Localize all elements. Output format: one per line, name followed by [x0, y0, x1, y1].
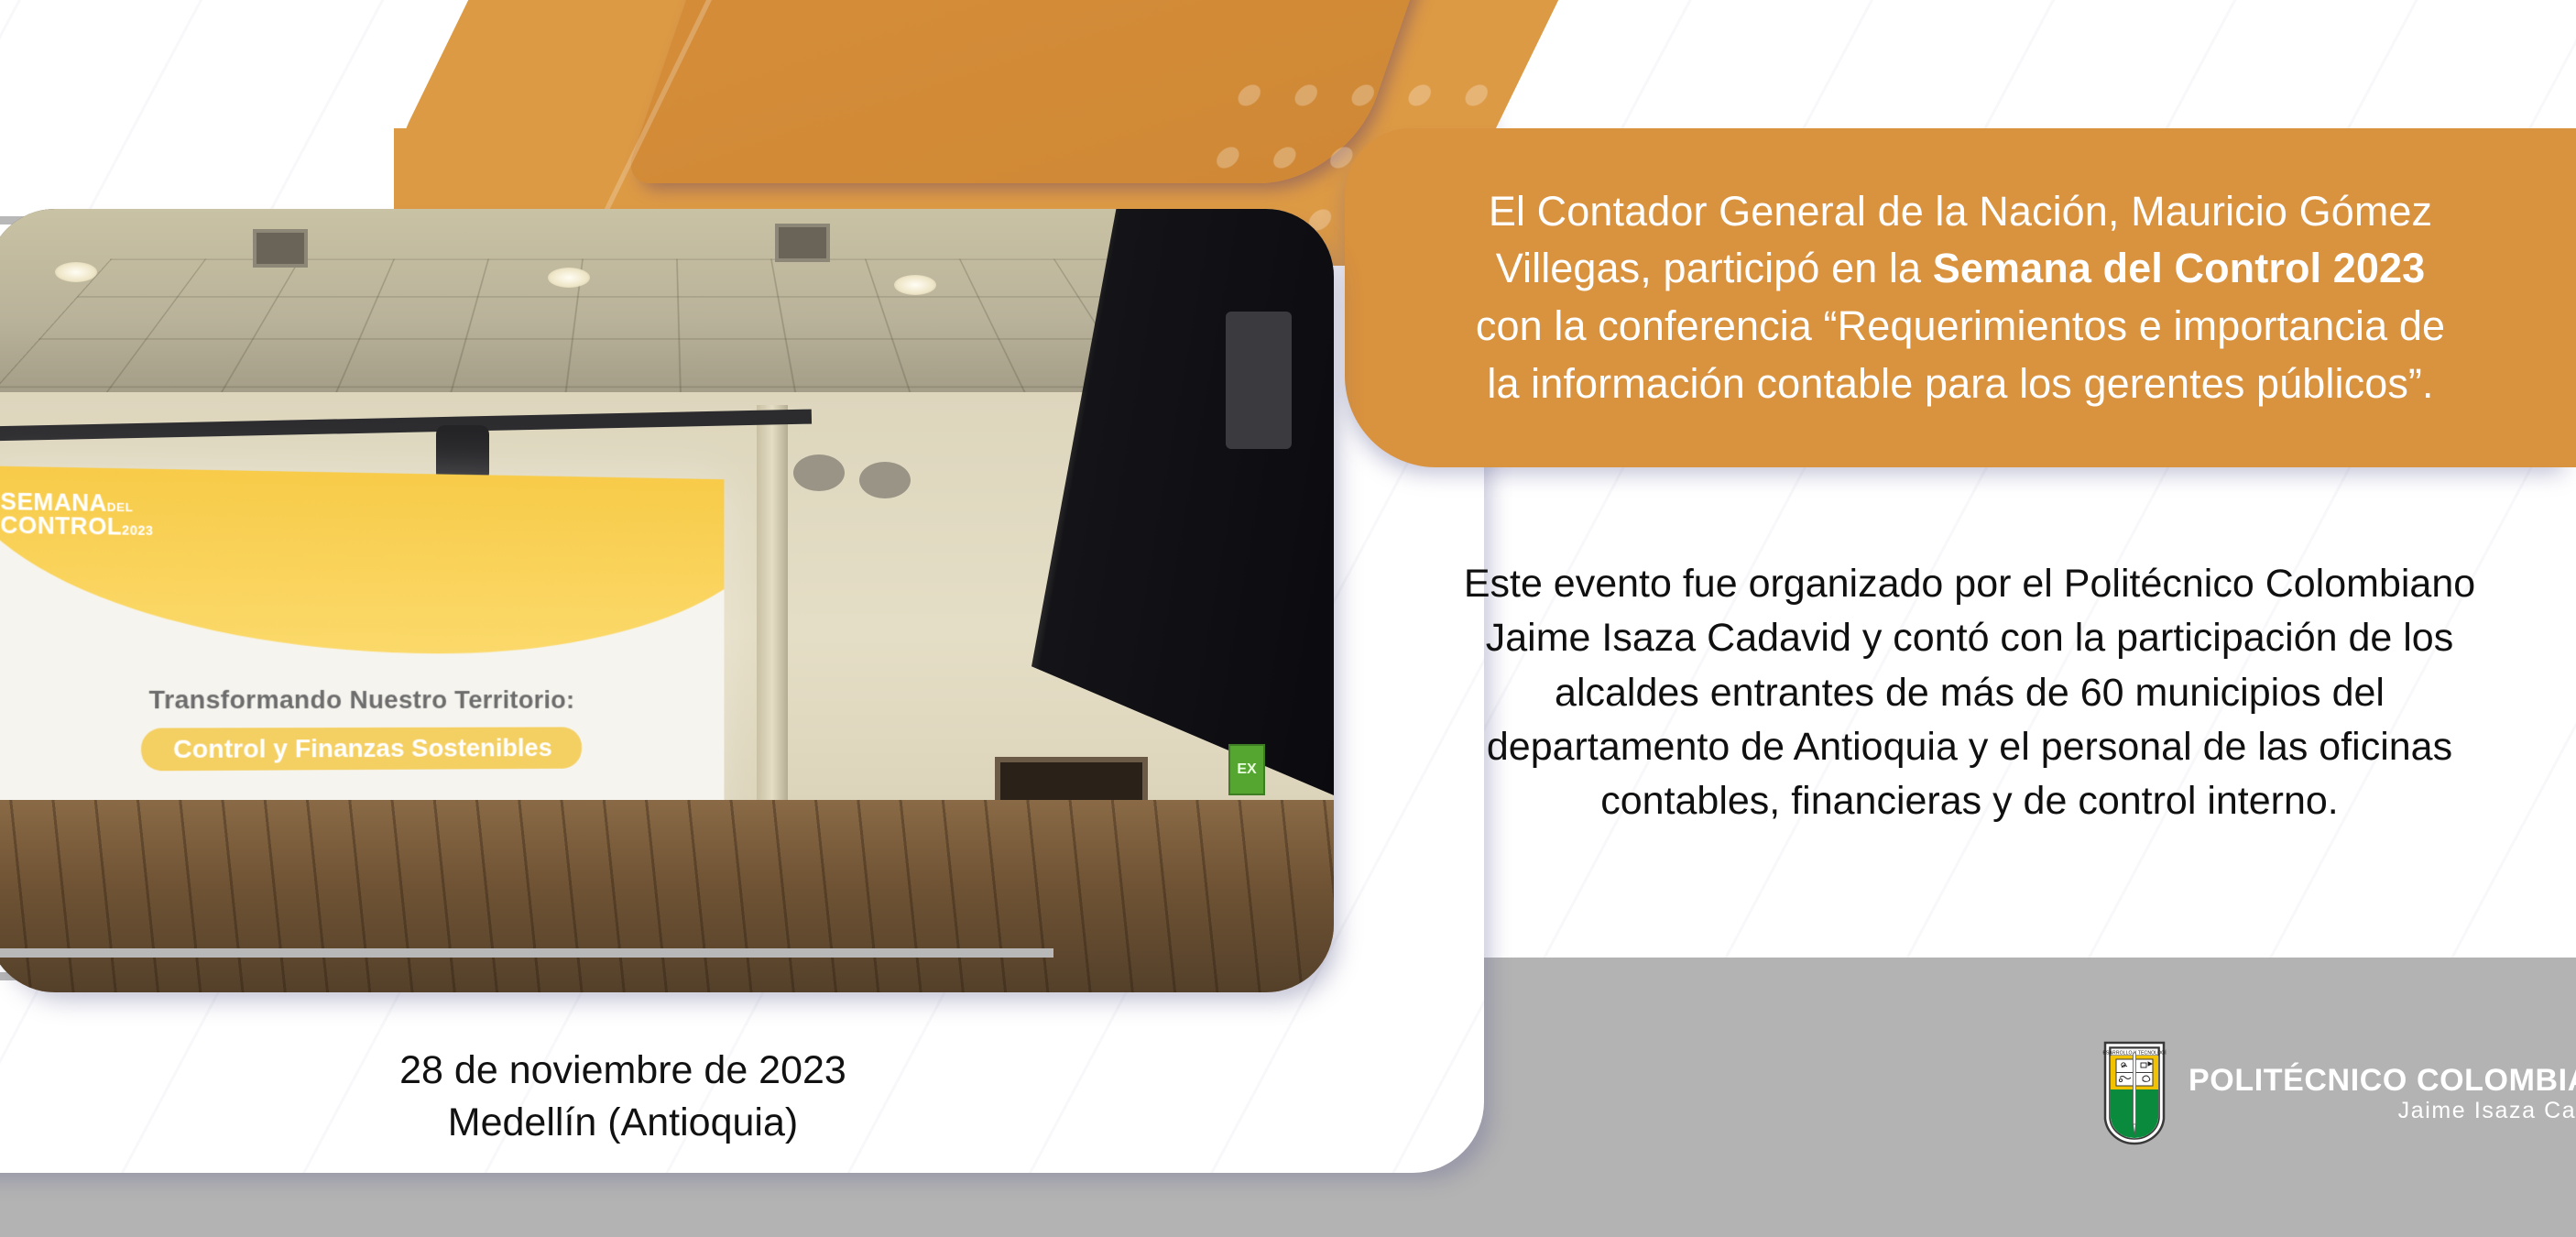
highlight-line-4: la información contable para los gerente… [1487, 360, 2433, 407]
photo-ceiling-light [548, 268, 590, 288]
highlight-callout-text: El Contador General de la Nación, Mauric… [1423, 183, 2498, 412]
slide-badge-line1-sub: DEL [107, 500, 133, 515]
highlight-line-1: El Contador General de la Nación, Mauric… [1489, 188, 2432, 235]
photo-underline-rule [0, 948, 1053, 958]
photo-fan [859, 462, 911, 498]
institution-name: POLITÉCNICO COLOMBIANO [2189, 1063, 2576, 1098]
highlight-callout-panel: El Contador General de la Nación, Mauric… [1345, 128, 2576, 467]
photo-fan [793, 454, 845, 491]
photo-floor-planks [0, 800, 1334, 992]
institution-subname: Jaime Isaza Cadavid [2189, 1098, 2576, 1123]
photo-ceiling-vent [775, 224, 830, 262]
event-caption: 28 de noviembre de 2023 Medellín (Antioq… [247, 1045, 999, 1149]
slide-title: Transformando Nuestro Territorio: [0, 685, 724, 716]
slide-event-badge: SEMANADEL CONTROL2023 [0, 491, 153, 541]
shield-icon: DESARROLLO Y TECNOLOGÍA [2102, 1040, 2167, 1146]
slide-badge-line2: CONTROL [0, 512, 122, 540]
highlight-line-3: con la conferencia “Requerimientos e imp… [1476, 302, 2445, 349]
event-photo: EX SEMANADEL CONTROL2023 Transformando N… [0, 209, 1334, 992]
caption-place: Medellín (Antioquia) [247, 1097, 999, 1149]
photo-ceiling-vent [253, 229, 308, 268]
slide-badge-line2-sub: 2023 [122, 522, 153, 538]
poster-canvas: El Contador General de la Nación, Mauric… [0, 0, 2576, 1237]
photo-ceiling-light [55, 262, 97, 282]
photo-exit-sign: EX [1228, 744, 1265, 795]
body-paragraph: Este evento fue organizado por el Polité… [1438, 557, 2501, 829]
photo-ceiling-light [894, 275, 936, 295]
slide-subtitle: Control y Finanzas Sostenibles [141, 727, 582, 771]
highlight-line-2-pre: Villegas, participó en la [1496, 245, 1933, 291]
institution-logo-lockup: DESARROLLO Y TECNOLOGÍA [2102, 1040, 2576, 1146]
highlight-line-2-bold: Semana del Control 2023 [1933, 245, 2426, 291]
caption-date: 28 de noviembre de 2023 [247, 1045, 999, 1097]
event-photo-scene: EX SEMANADEL CONTROL2023 Transformando N… [0, 209, 1334, 992]
photo-speaker [1226, 312, 1292, 449]
institution-logo-text: POLITÉCNICO COLOMBIANO Jaime Isaza Cadav… [2189, 1063, 2576, 1123]
